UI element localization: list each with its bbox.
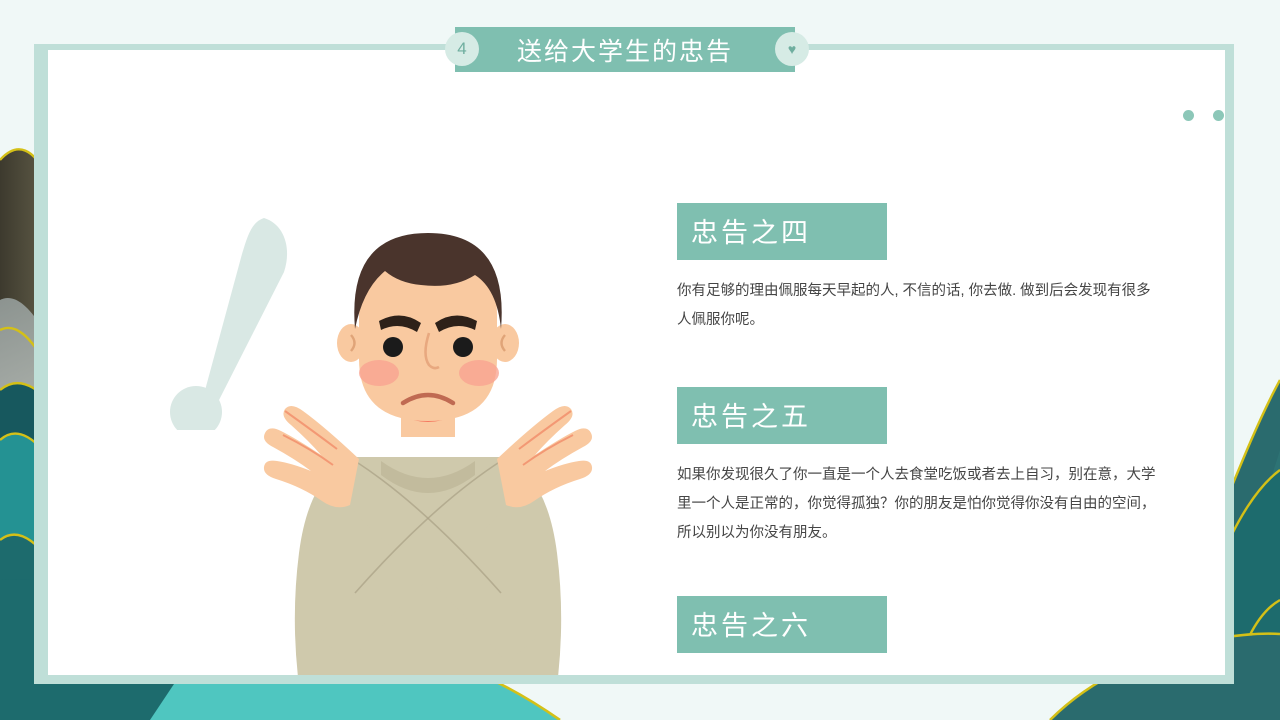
slide-title: 送给大学生的忠告 — [455, 27, 795, 72]
section-body: 你有足够的理由佩服每天早起的人, 不信的话, 你去做. 做到后会发现有很多人佩服… — [677, 277, 1157, 335]
decorative-dots — [1183, 110, 1225, 121]
section-heading: 忠告之五 — [677, 387, 887, 444]
advice-section: 忠告之六 好好利用在公共场合说话的机会，展示或者锻炼，都可以。 — [677, 596, 1177, 675]
slide-card: 忠告之四 你有足够的理由佩服每天早起的人, 不信的话, 你去做. 做到后会发现有… — [48, 50, 1225, 675]
section-heading: 忠告之四 — [677, 203, 887, 260]
dot-icon — [1183, 110, 1194, 121]
section-heading: 忠告之六 — [677, 596, 887, 653]
section-body: 好好利用在公共场合说话的机会，展示或者锻炼，都可以。 — [677, 670, 1157, 675]
advice-section: 忠告之四 你有足够的理由佩服每天早起的人, 不信的话, 你去做. 做到后会发现有… — [677, 203, 1177, 335]
dot-icon — [1213, 110, 1224, 121]
advice-sections: 忠告之四 你有足够的理由佩服每天早起的人, 不信的话, 你去做. 做到后会发现有… — [677, 203, 1177, 675]
advice-section: 忠告之五 如果你发现很久了你一直是一个人去食堂吃饭或者去上自习，别在意，大学里一… — [677, 387, 1177, 548]
section-body: 如果你发现很久了你一直是一个人去食堂吃饭或者去上自习，别在意，大学里一个人是正常… — [677, 461, 1157, 548]
crossed-arms-boy-illustration — [233, 225, 623, 675]
